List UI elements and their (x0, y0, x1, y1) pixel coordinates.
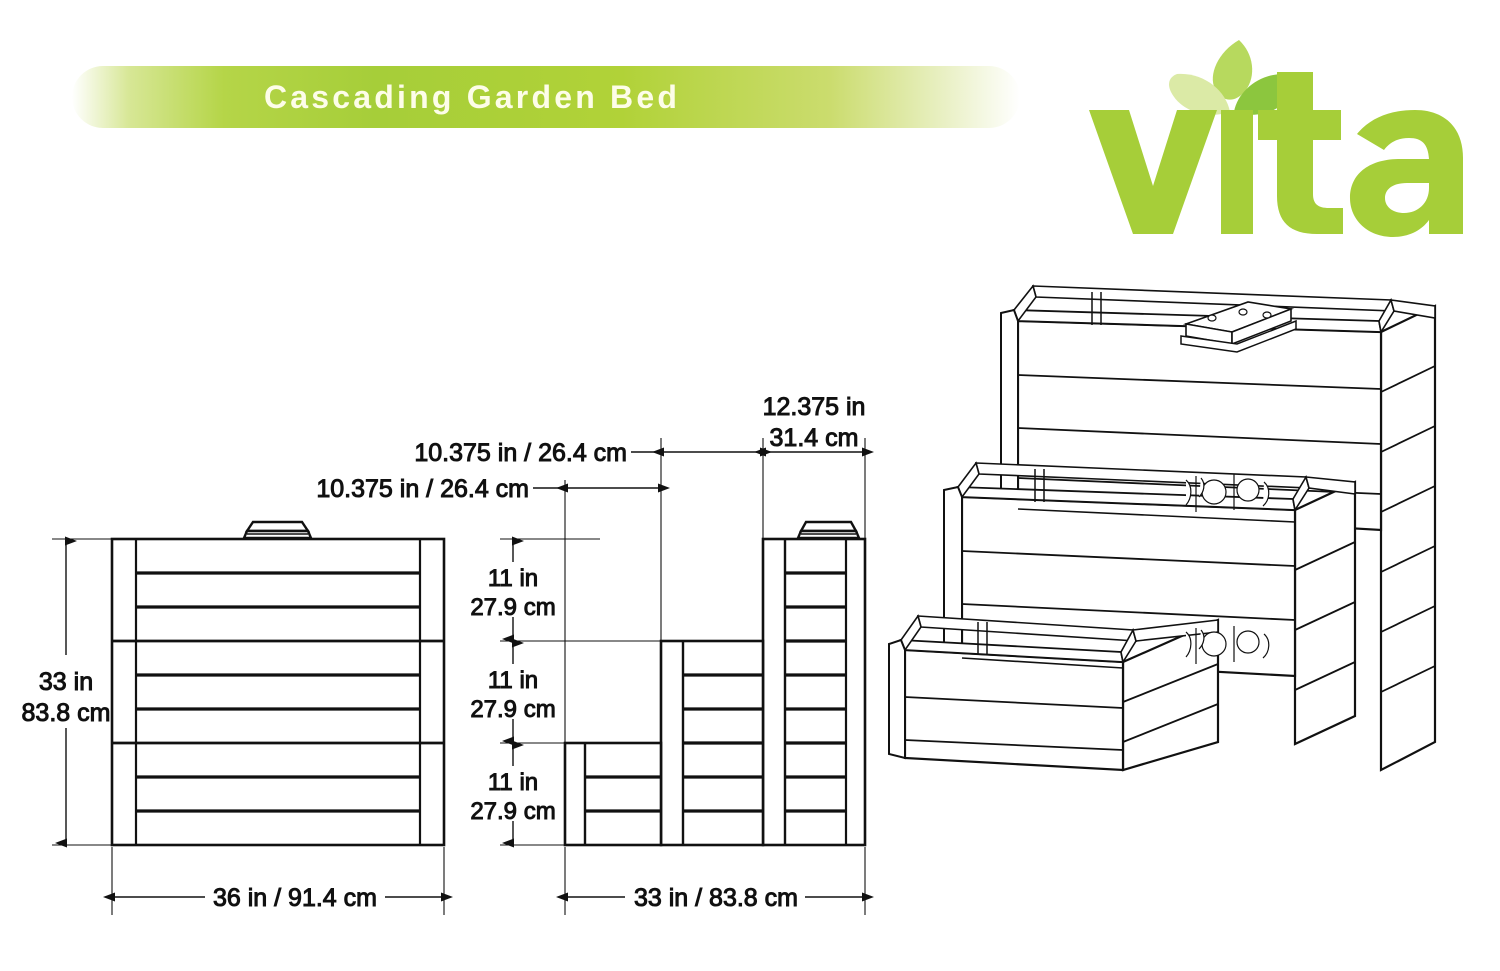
isometric-product-view (889, 286, 1435, 770)
overall-height-label-cm: 83.8 cm (22, 699, 111, 727)
side-elevation-view (565, 522, 865, 845)
front-width-label: 36 in / 91.4 cm (213, 884, 377, 912)
step-depth-lower-label: 10.375 in / 26.4 cm (316, 475, 529, 503)
front-elevation-view (112, 522, 444, 845)
iso-mid-right-panel (1295, 482, 1355, 744)
side-column-short (565, 743, 661, 845)
tier-top-label-in: 11 in (488, 565, 538, 592)
iso-bot-left-post (889, 640, 905, 758)
tier-mid-label-cm: 27.9 cm (470, 696, 555, 723)
side-column-tall (763, 539, 865, 845)
tier-bottom-label-in: 11 in (488, 769, 538, 796)
iso-mid-left-post (944, 487, 962, 658)
tier-top-label-cm: 27.9 cm (470, 594, 555, 621)
front-body-outline (112, 539, 444, 845)
iso-top-right-panel (1381, 306, 1435, 770)
top-tier-depth-label-cm: 31.4 cm (770, 424, 859, 452)
tier-bottom-label-cm: 27.9 cm (470, 798, 555, 825)
step-depth-upper-label: 10.375 in / 26.4 cm (414, 439, 627, 467)
side-cap-detail (798, 522, 859, 538)
technical-drawing: 33 in 83.8 cm 36 in / 91.4 cm 33 in / 83… (0, 0, 1500, 971)
tier-mid-label-in: 11 in (488, 667, 538, 694)
top-tier-depth-label-in: 12.375 in (763, 393, 866, 421)
iso-top-left-post (1001, 310, 1018, 509)
front-cap-detail (244, 522, 311, 538)
side-width-label: 33 in / 83.8 cm (634, 884, 798, 912)
page-root: Cascading Garden Bed (0, 0, 1500, 971)
iso-top-rail-back (1033, 286, 1394, 311)
iso-bot-front-panel (905, 650, 1123, 770)
overall-height-label-in: 33 in (39, 668, 93, 696)
